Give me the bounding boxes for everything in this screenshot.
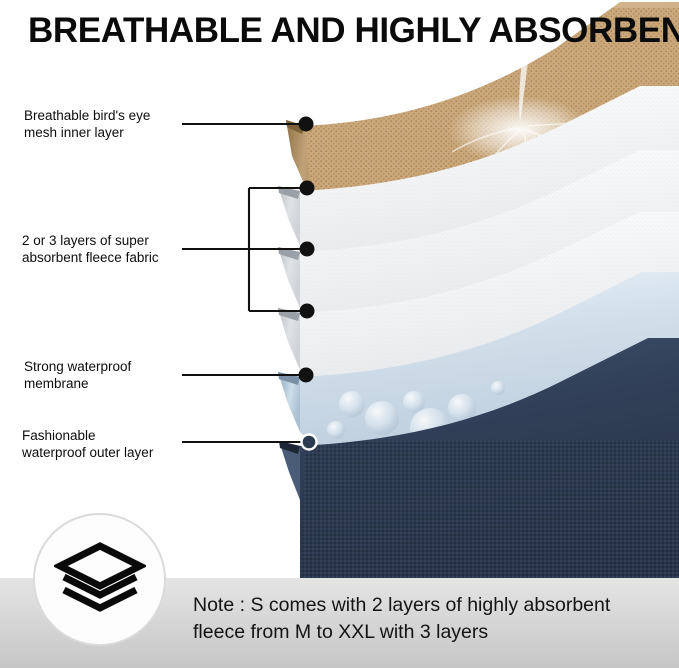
layers-stack-icon <box>54 540 146 620</box>
callout-label-outer-layer: Fashionable waterproof outer layer <box>22 428 187 461</box>
callout-label-absorbent-fleece: 2 or 3 layers of super absorbent fleece … <box>22 233 187 266</box>
product-layer-stack-illustration <box>0 0 679 600</box>
callout-label-waterproof-membrane: Strong waterproof membrane <box>24 359 184 392</box>
callout-label-mesh-inner-layer: Breathable bird's eye mesh inner layer <box>24 108 184 141</box>
note-text: Note : S comes with 2 layers of highly a… <box>193 592 663 646</box>
page-title: BREATHABLE AND HIGHLY ABSORBENT <box>28 11 668 51</box>
layers-badge <box>33 513 166 646</box>
infographic-canvas: BREATHABLE AND HIGHLY ABSORBENT Breathab… <box>0 0 679 668</box>
